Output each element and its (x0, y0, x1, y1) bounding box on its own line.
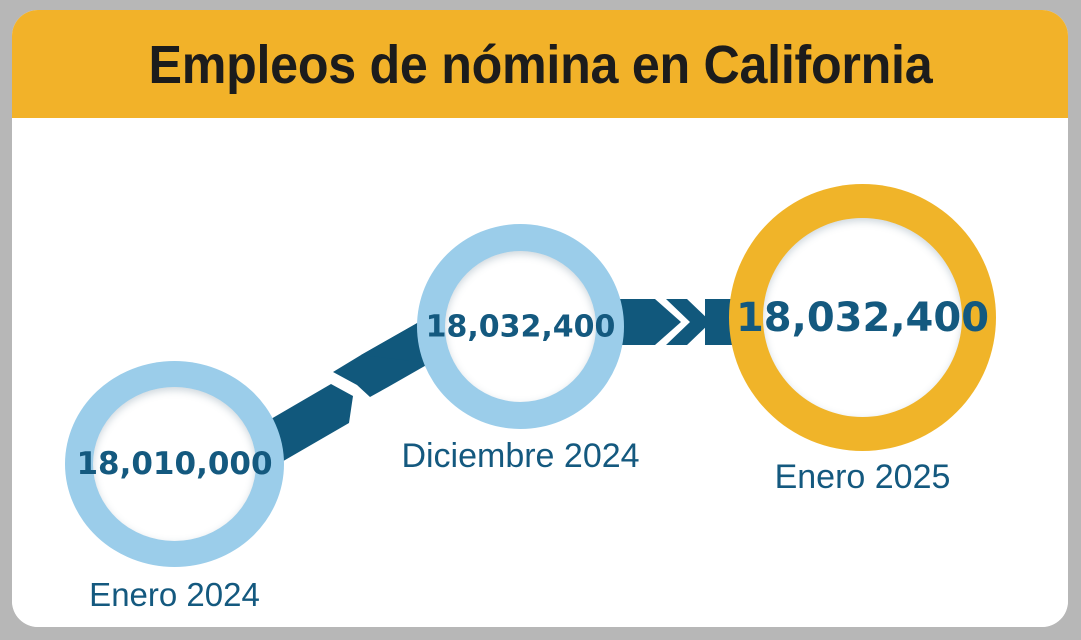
stage-node-jan2025[interactable]: 18,032,400 Enero 2025 (729, 184, 996, 451)
header-bar: Empleos de nómina en California (12, 10, 1068, 118)
label-jan2025: Enero 2025 (775, 458, 951, 497)
label-dec2024: Diciembre 2024 (401, 437, 639, 476)
label-jan2024: Enero 2024 (89, 576, 260, 614)
stage-node-dec2024[interactable]: 18,032,400 Diciembre 2024 (417, 224, 624, 429)
value-jan2025: 18,032,400 (736, 295, 989, 341)
page-title: Empleos de nómina en California (148, 38, 932, 92)
value-jan2024: 18,010,000 (76, 446, 272, 482)
value-dec2024: 18,032,400 (426, 309, 616, 344)
stage-node-jan2024[interactable]: 18,010,000 Enero 2024 (65, 361, 284, 567)
infographic-root: Empleos de nómina en California 18,010,0… (0, 0, 1081, 640)
